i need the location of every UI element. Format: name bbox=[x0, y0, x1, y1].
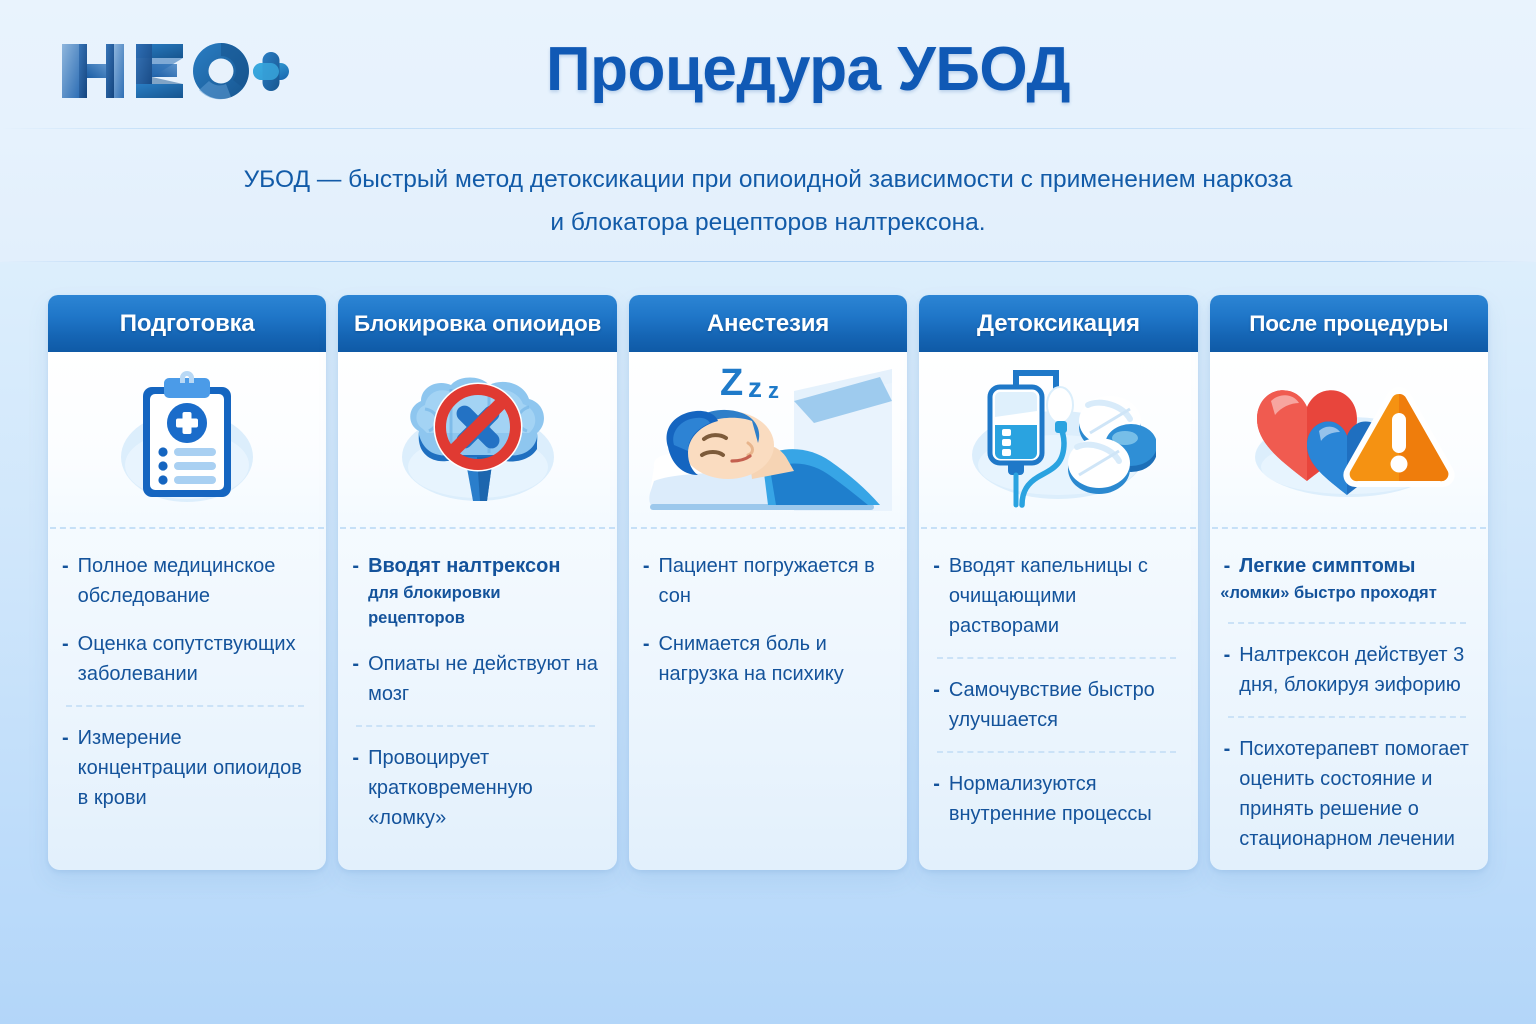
step-header-preparation: Подготовка bbox=[48, 295, 326, 352]
icon-zone-detoxification bbox=[919, 352, 1197, 527]
bullet-list-preparation: - Полное медицинское обследование - Оцен… bbox=[48, 529, 326, 870]
list-item: - Полное медицинское обследование bbox=[62, 551, 310, 611]
bullet-dash-icon: - bbox=[933, 551, 940, 581]
bullet-text: Психотерапевт помогает оценить состояние… bbox=[1239, 734, 1472, 854]
list-item: - Провоцирует кратковременную «ломку» bbox=[352, 743, 600, 833]
bullet-text: Полное медицинское обследование bbox=[78, 551, 311, 611]
list-item: - Вводят капельницы с очищающими раствор… bbox=[933, 551, 1181, 641]
icon-zone-after-procedure bbox=[1210, 352, 1488, 527]
bullet-list-anesthesia: - Пациент погружается в сон - Снимается … bbox=[629, 529, 907, 870]
bullet-dash-icon: - bbox=[352, 551, 359, 581]
icon-zone-opioid-blocking bbox=[338, 352, 616, 527]
list-item: - Пациент погружается в сон bbox=[643, 551, 891, 611]
bullet-divider bbox=[1228, 716, 1466, 718]
step-card-detoxification[interactable]: Детоксикация bbox=[919, 295, 1197, 870]
bullet-text: Оценка сопутствующих заболевании bbox=[78, 629, 311, 689]
bullet-dash-icon: - bbox=[62, 551, 69, 581]
icon-zone-preparation bbox=[48, 352, 326, 527]
page-header: Процедура УБОД УБОД — быстрый метод дето… bbox=[0, 0, 1536, 262]
spacer bbox=[643, 611, 891, 629]
icon-zone-anesthesia: Z z z bbox=[629, 352, 907, 527]
list-item: - Снимается боль и нагрузка на психику bbox=[643, 629, 891, 689]
clipboard-medical-icon bbox=[112, 365, 262, 515]
bullet-dash-icon: - bbox=[1224, 551, 1231, 581]
zzz-label: Z bbox=[720, 362, 743, 404]
list-item: - Нормализуются внутренние процессы bbox=[933, 769, 1181, 829]
step-header-detoxification: Детоксикация bbox=[919, 295, 1197, 352]
list-item: - Вводят налтрексон для блокировки рецеп… bbox=[352, 551, 600, 631]
list-item: - Самочувствие быстро улучшается bbox=[933, 675, 1181, 735]
bullet-dash-icon: - bbox=[643, 551, 650, 581]
bullet-dash-icon: - bbox=[352, 743, 359, 773]
subtitle-line-2: и блокатора рецепторов налтрексона. bbox=[138, 201, 1398, 244]
bullet-text: Пациент погружается в сон bbox=[658, 551, 891, 611]
bullet-text: Налтрексон действует 3 дня, блокируя эиф… bbox=[1239, 640, 1472, 700]
brain-blocked-icon bbox=[389, 365, 567, 515]
step-header-after-procedure: После процедуры bbox=[1210, 295, 1488, 352]
bullet-list-detoxification: - Вводят капельницы с очищающими раствор… bbox=[919, 529, 1197, 870]
bullet-subtext: для блокировки рецепторов bbox=[368, 581, 601, 631]
list-item: - Налтрексон действует 3 дня, блокируя э… bbox=[1224, 640, 1472, 700]
bullet-text-wrap: Вводят налтрексон для блокировки рецепто… bbox=[368, 551, 601, 631]
bullet-list-opioid-blocking: - Вводят налтрексон для блокировки рецеп… bbox=[338, 529, 616, 870]
bullet-dash-icon: - bbox=[62, 629, 69, 659]
bullet-divider bbox=[356, 725, 594, 727]
bullet-divider bbox=[937, 657, 1175, 659]
bullet-text-wrap: Легкие симптомы «ломки» быстро проходят bbox=[1239, 551, 1472, 606]
bullet-text: Легкие симптомы bbox=[1239, 551, 1472, 581]
list-item: - Измерение концентрации опиоидов в кров… bbox=[62, 723, 310, 813]
bullet-divider bbox=[66, 705, 304, 707]
step-card-anesthesia[interactable]: Анестезия bbox=[629, 295, 907, 870]
step-card-preparation[interactable]: Подготовка bbox=[48, 295, 326, 870]
bullet-dash-icon: - bbox=[62, 723, 69, 753]
bullet-dash-icon: - bbox=[352, 649, 359, 679]
page-subtitle: УБОД — быстрый метод детоксикации при оп… bbox=[138, 158, 1398, 244]
step-card-opioid-blocking[interactable]: Блокировка опиоидов bbox=[338, 295, 616, 870]
page-title: Процедура УБОД bbox=[0, 34, 1536, 105]
bullet-dash-icon: - bbox=[643, 629, 650, 659]
bullet-text: Вводят налтрексон bbox=[368, 551, 601, 581]
svg-text:z: z bbox=[768, 378, 779, 403]
svg-text:z: z bbox=[748, 372, 762, 403]
bullet-text: Самочувствие быстро улучшается bbox=[949, 675, 1182, 735]
sleeping-patient-icon: Z z z bbox=[644, 361, 892, 519]
bullet-divider bbox=[1228, 622, 1466, 624]
bullet-dash-icon: - bbox=[1224, 734, 1231, 764]
bullet-dash-icon: - bbox=[933, 675, 940, 705]
spacer bbox=[62, 611, 310, 629]
bullet-text: Нормализуются внутренние процессы bbox=[949, 769, 1182, 829]
step-header-anesthesia: Анестезия bbox=[629, 295, 907, 352]
list-item: - Психотерапевт помогает оценить состоян… bbox=[1224, 734, 1472, 854]
step-card-after-procedure[interactable]: После процедуры bbox=[1210, 295, 1488, 870]
list-item: - Опиаты не действуют на мозг bbox=[352, 649, 600, 709]
hearts-warning-icon bbox=[1241, 369, 1457, 511]
step-header-opioid-blocking: Блокировка опиоидов bbox=[338, 295, 616, 352]
spacer bbox=[352, 631, 600, 649]
bullet-text: Опиаты не действуют на мозг bbox=[368, 649, 601, 709]
bullet-text: Снимается боль и нагрузка на психику bbox=[658, 629, 891, 689]
bullet-text: Вводят капельницы с очищающими растворам… bbox=[949, 551, 1182, 641]
list-item: - Оценка сопутствующих заболевании bbox=[62, 629, 310, 689]
bullet-divider bbox=[937, 751, 1175, 753]
bullet-subtext: «ломки» быстро проходят bbox=[1220, 581, 1472, 606]
bullet-text: Измерение концентрации опиоидов в крови bbox=[78, 723, 311, 813]
iv-drip-pills-icon bbox=[960, 365, 1156, 515]
procedure-steps-row: Подготовка bbox=[48, 295, 1488, 870]
header-divider bbox=[0, 128, 1536, 129]
bullet-list-after-procedure: - Легкие симптомы «ломки» быстро проходя… bbox=[1210, 529, 1488, 870]
bullet-dash-icon: - bbox=[933, 769, 940, 799]
list-item: - Легкие симптомы «ломки» быстро проходя… bbox=[1224, 551, 1472, 606]
subtitle-line-1: УБОД — быстрый метод детоксикации при оп… bbox=[138, 158, 1398, 201]
bullet-dash-icon: - bbox=[1224, 640, 1231, 670]
bullet-text: Провоцирует кратковременную «ломку» bbox=[368, 743, 601, 833]
